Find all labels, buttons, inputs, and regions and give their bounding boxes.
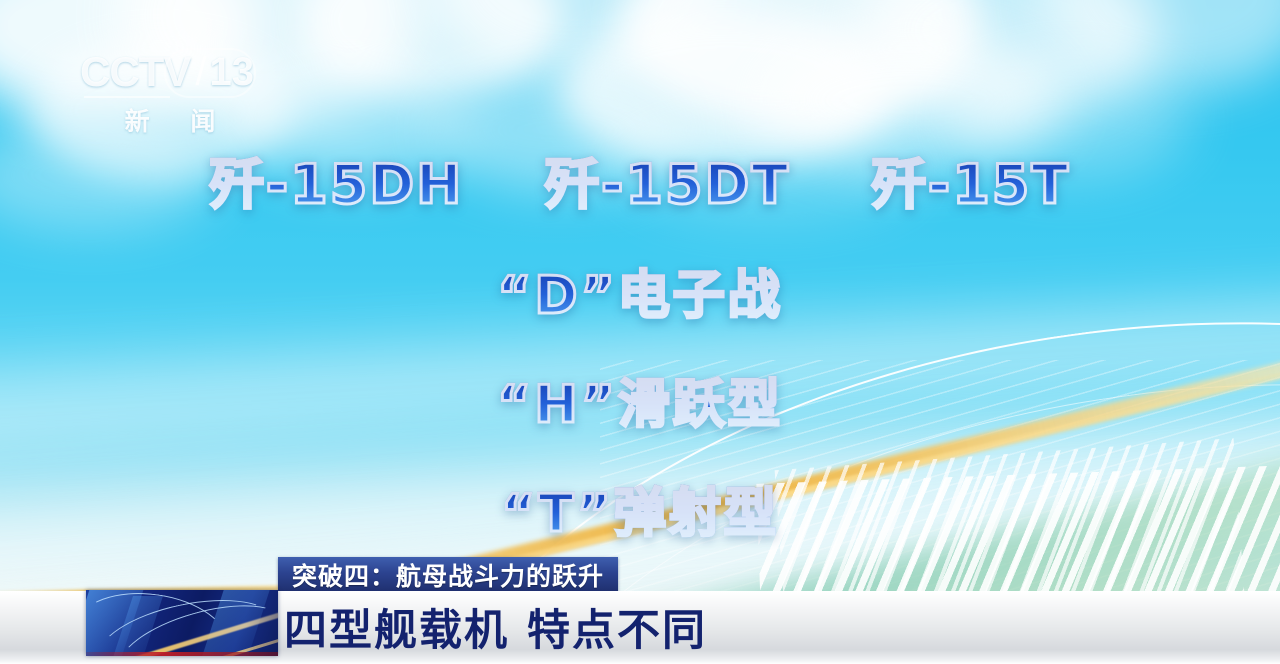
legend-row-d: “D”电子战: [0, 253, 1280, 328]
broadcast-screen: CCTV / 13 新 闻 歼-15DH 歼-15DT 歼-15T “D”电子战…: [0, 0, 1280, 664]
legend-code-t: “T”: [501, 484, 614, 544]
kicker-bar: 突破四：航母战斗力的跃升: [278, 557, 618, 592]
channel-logo-pill-icon: [164, 48, 256, 98]
channel-name: 新 闻: [80, 102, 260, 138]
aircraft-model-2: 歼-15DT: [545, 153, 790, 216]
kicker-text: 突破四：航母战斗力的跃升: [292, 557, 604, 593]
channel-logo-underline-icon: [84, 96, 170, 98]
aircraft-model-1: 歼-15DH: [210, 153, 464, 216]
legend-code-d: “D”: [497, 266, 618, 326]
aircraft-model-line: 歼-15DH 歼-15DT 歼-15T: [0, 140, 1280, 219]
headline-part-2: 特点不同: [527, 606, 707, 656]
station-ident-graphic: [86, 590, 278, 656]
headline-part-1: 四型舰载机: [284, 606, 509, 656]
channel-number: 13: [209, 50, 254, 95]
legend-row-t: “T”弹射型: [0, 471, 1280, 546]
channel-logo-divider: /: [195, 50, 206, 95]
fullscreen-graphic: 歼-15DH 歼-15DT 歼-15T “D”电子战 “H”滑跃型 “T”弹射型: [0, 140, 1280, 580]
channel-logo-text: CCTV: [80, 48, 190, 96]
legend-meaning-d: 电子战: [618, 266, 783, 326]
legend-meaning-h: 滑跃型: [618, 375, 783, 435]
legend-code-h: “H”: [497, 375, 618, 435]
headline-text: 四型舰载机特点不同: [284, 596, 707, 658]
lower-third: 突破四：航母战斗力的跃升 四型舰载机特点不同: [0, 554, 1280, 664]
aircraft-model-3: 歼-15T: [872, 153, 1070, 216]
legend-meaning-t: 弹射型: [614, 484, 779, 544]
channel-logo: CCTV / 13 新 闻: [80, 46, 260, 136]
legend-row-h: “H”滑跃型: [0, 362, 1280, 437]
